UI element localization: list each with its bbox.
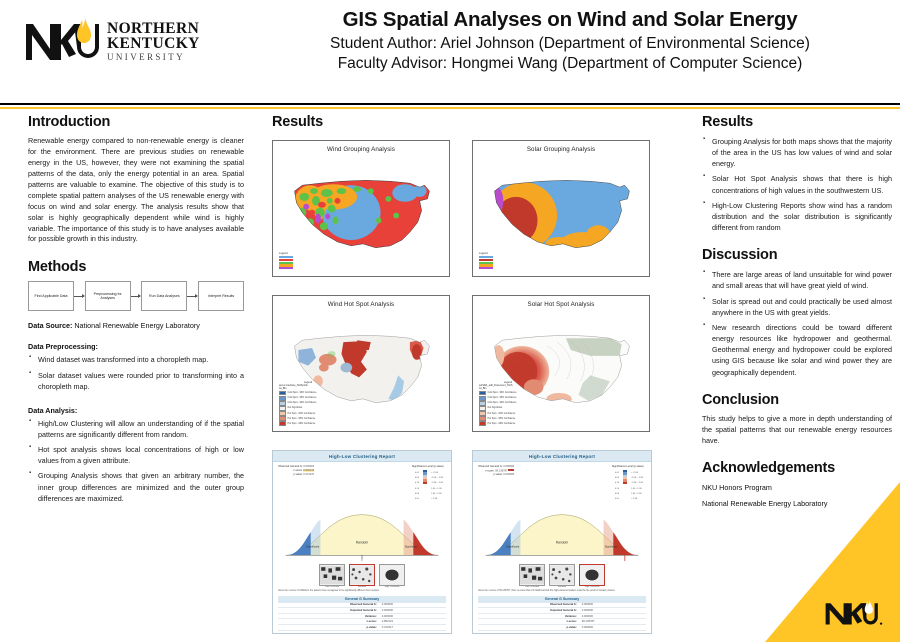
preprocessing-label: Data Preprocessing: — [28, 342, 244, 351]
legend-swatch-cold90 — [479, 401, 486, 406]
legend-row: Cold Spot - 90% Confidence — [279, 401, 337, 406]
legend-swatch-cold95 — [479, 396, 486, 401]
legend-row: Cold Spot - 95% Confidence — [479, 396, 537, 401]
legend-swatch-hot99 — [479, 421, 486, 426]
figure-solar-hotspot: Solar Hot Spot Analysis — [472, 295, 650, 432]
left-column: Introduction Renewable energy compared t… — [28, 114, 244, 510]
logo-line-university: UNIVERSITY — [107, 53, 200, 62]
legend-swatch-cold95 — [279, 396, 286, 401]
conclusion-heading: Conclusion — [702, 392, 892, 408]
legend-label: Hot Spot - 95% Confidence — [488, 418, 516, 420]
pvalue-label: p-value: — [293, 473, 302, 476]
thumb-caption: Random — [549, 586, 575, 588]
legend-label: Hot Spot - 95% Confidence — [288, 418, 316, 420]
clustering-report-card[interactable]: High-Low Clustering Report Observed Gene… — [472, 450, 652, 634]
clustering-report-card[interactable]: High-Low Clustering Report Observed Gene… — [272, 450, 452, 634]
report-stats-left: Observed General G: 0.000000 z-score: 59… — [478, 465, 514, 477]
legend-label: Cold Spot - 90% Confidence — [488, 402, 517, 404]
general-g-summary-table: Observed General G:0.000000 Expected Gen… — [278, 603, 446, 631]
general-g-summary-table: Observed General G:0.000000 Expected Gen… — [478, 603, 646, 631]
map-card[interactable]: Wind Hot Spot Analysis — [272, 295, 450, 432]
map-card[interactable]: Wind Grouping Analysis — [272, 140, 450, 277]
flow-arrow-3-icon — [187, 294, 198, 298]
hotspot-legend: Legend arcex.interface_HotSpotIn Gi_Bin … — [279, 381, 337, 426]
conclusion-text: This study helps to give a more in depth… — [702, 414, 892, 447]
header-divider-gold — [0, 107, 900, 109]
general-g-summary-heading: General G Summary — [478, 596, 646, 603]
data-source-line: Data Source: National Renewable Energy L… — [28, 321, 244, 330]
thumb-caption: High Clustered — [379, 586, 405, 588]
thumb-image — [579, 564, 605, 586]
nku-logo: NORTHERN KENTUCKY UNIVERSITY — [24, 16, 200, 66]
thumb-high-clustered: High Clustered — [379, 564, 405, 589]
list-item: Wind dataset was transformed into a chor… — [28, 354, 244, 365]
normal-distribution-curve: Random Significant Significant — [478, 505, 646, 563]
legend-row: Cold Spot - 99% Confidence — [279, 391, 337, 396]
legend-row: Not Significant — [279, 406, 337, 411]
thumb-image — [519, 564, 545, 586]
thumb-image — [349, 564, 375, 586]
report-title: High-Low Clustering Report — [273, 451, 451, 462]
legend-row: Hot Spot - 95% Confidence — [479, 416, 537, 421]
normal-distribution-curve: Random Significant Significant — [278, 505, 446, 563]
map-card[interactable]: Solar Grouping Analysis — [472, 140, 650, 277]
dataset-information-heading: Dataset Information — [278, 633, 446, 634]
thumb-image — [379, 564, 405, 586]
figure-solar-grouping: Solar Grouping Analysis — [472, 140, 650, 277]
thumb-low-clustered: Low Clustered — [519, 564, 545, 589]
acknowledgement-item: National Renewable Energy Laboratory — [702, 498, 892, 510]
legend-subfield-name: Gi_Bin — [279, 387, 337, 390]
figure-wind-clustering-report: High-Low Clustering Report Observed Gene… — [272, 450, 450, 634]
critical-color-bar — [623, 470, 627, 504]
thumb-random: Random — [349, 564, 375, 589]
svg-text:Significant: Significant — [506, 544, 520, 548]
pvalue-value: 0.372317 — [303, 473, 314, 476]
flow-step-1: Find Applicable Data — [28, 281, 74, 311]
methods-flowchart: Find Applicable Data Preprocessing for A… — [28, 281, 244, 311]
header-divider-black — [0, 103, 900, 105]
list-item: Hot spot analysis shows local concentrat… — [28, 444, 244, 466]
legend-swatch-purple — [279, 267, 293, 269]
significance-level-label: Significance Level (p-value) — [412, 465, 446, 469]
middle-column: Results Wind Grouping Analysis — [272, 114, 672, 634]
observed-g-label: Observed General G: — [478, 465, 503, 468]
legend-swatch-hot95 — [279, 416, 286, 421]
list-item: Solar Hot Spot Analysis shows that there… — [702, 173, 892, 195]
legend-row: Hot Spot - 90% Confidence — [279, 411, 337, 416]
nku-wordmark: NORTHERN KENTUCKY UNIVERSITY — [107, 21, 200, 62]
results-heading-right: Results — [702, 114, 892, 130]
thumb-caption: Random — [349, 586, 375, 588]
flow-step-3: Run Data Analyses — [141, 281, 187, 311]
thumb-high-clustered: High Clustered — [579, 564, 605, 589]
logo-line-kentucky: KENTUCKY — [107, 36, 200, 52]
corner-nku-logo-icon — [824, 600, 886, 630]
svg-text:Random: Random — [556, 540, 569, 544]
pvalue-label: p-value: — [493, 473, 502, 476]
observed-g-value: 0.000001 — [303, 465, 314, 468]
poster-header: NORTHERN KENTUCKY UNIVERSITY GIS Spatial… — [0, 0, 900, 96]
table-row: p-value:0.372317 — [278, 624, 446, 630]
flow-arrow-2-icon — [131, 294, 142, 298]
data-analysis-list: High/Low Clustering will allow an unders… — [28, 418, 244, 504]
introduction-text: Renewable energy compared to non-renewab… — [28, 136, 244, 245]
legend-subfield-name: Gi_Bin — [479, 387, 537, 390]
list-item: Grouping Analysis shows that given an ar… — [28, 470, 244, 503]
list-item: High-Low Clustering Reports show wind ha… — [702, 200, 892, 233]
observed-g-label: Observed General G: — [278, 465, 303, 468]
legend-label: Not Significant — [288, 407, 303, 409]
legend-row: Cold Spot - 95% Confidence — [279, 396, 337, 401]
legend-swatch-purple — [479, 267, 493, 269]
legend-label: Cold Spot - 95% Confidence — [288, 397, 317, 399]
legend-label: Cold Spot - 90% Confidence — [288, 402, 317, 404]
legend-swatch-notsig — [279, 406, 286, 411]
zscore-value: 59.136787 — [495, 469, 507, 472]
dataset-information-heading: Dataset Information — [478, 633, 646, 634]
introduction-heading: Introduction — [28, 114, 244, 130]
list-item: Solar is spread out and could practicall… — [702, 296, 892, 318]
legend-label: Cold Spot - 99% Confidence — [288, 392, 317, 394]
hotspot-legend: Legend solSRA_adtl_Document_HotS Gi_Bin … — [479, 381, 537, 426]
results-list: Grouping Analysis for both maps shows th… — [702, 136, 892, 233]
legend-label: Hot Spot - 99% Confidence — [288, 423, 316, 425]
acknowledgement-item: NKU Honors Program — [702, 482, 892, 494]
thumb-image — [549, 564, 575, 586]
faculty-advisor-line: Faculty Advisor: Hongmei Wang (Departmen… — [250, 54, 890, 74]
list-item: Grouping Analysis for both maps shows th… — [702, 136, 892, 169]
legend-title: Legend — [279, 252, 305, 255]
zscore-label: z-score: — [485, 469, 494, 472]
legend-label: Cold Spot - 99% Confidence — [488, 392, 517, 394]
legend-label: Hot Spot - 90% Confidence — [288, 413, 316, 415]
flow-step-4: Interpret Results — [198, 281, 244, 311]
svg-text:Significant: Significant — [605, 544, 619, 548]
zscore-range-table: < -2.58-2.58 - -1.96-1.96 - -1.65 1.65 -… — [428, 470, 446, 504]
legend-swatch-hot90 — [479, 411, 486, 416]
flow-step-2: Preprocessing for Analyses — [85, 281, 131, 311]
figure-wind-grouping: Wind Grouping Analysis — [272, 140, 450, 277]
pattern-thumbnails: Low Clustered Random — [278, 564, 446, 589]
thumb-image — [319, 564, 345, 586]
legend-swatch-hot95 — [479, 416, 486, 421]
map-title: Solar Hot Spot Analysis — [473, 296, 649, 308]
data-source-label: Data Source: — [28, 321, 72, 330]
table-row: p-value:0.000000 — [478, 624, 646, 630]
report-stats-right: Significance Level (p-value) 0.010.050.1… — [612, 465, 646, 504]
legend-row: Hot Spot - 90% Confidence — [479, 411, 537, 416]
nku-monogram-icon — [24, 16, 100, 66]
legend-swatch-cold90 — [279, 401, 286, 406]
thumb-low-clustered: Low Clustered — [319, 564, 345, 589]
acknowledgements-heading: Acknowledgements — [702, 460, 892, 476]
student-author-line: Student Author: Ariel Johnson (Departmen… — [250, 34, 890, 54]
thumb-caption: Low Clustered — [519, 586, 545, 588]
critical-values-table: 0.010.050.10 0.100.050.01 — [412, 470, 422, 504]
data-source-value: National Renewable Energy Laboratory — [74, 321, 199, 330]
zscore-value: 0.892124 — [303, 469, 314, 472]
poster-title: GIS Spatial Analyses on Wind and Solar E… — [250, 8, 890, 32]
title-block: GIS Spatial Analyses on Wind and Solar E… — [250, 8, 890, 75]
svg-text:Random: Random — [356, 540, 369, 544]
flow-arrow-1-icon — [74, 294, 85, 298]
figure-wind-hotspot: Wind Hot Spot Analysis — [272, 295, 450, 432]
critical-values-table: 0.010.050.10 0.100.050.01 — [612, 470, 622, 504]
discussion-heading: Discussion — [702, 247, 892, 263]
thumb-caption: High Clustered — [579, 586, 605, 588]
thumb-random: Random — [549, 564, 575, 589]
map-title: Wind Grouping Analysis — [273, 141, 449, 153]
legend-row: Hot Spot - 99% Confidence — [479, 421, 537, 426]
legend-swatch-cold99 — [479, 391, 486, 396]
list-item: There are large areas of land unsuitable… — [702, 269, 892, 291]
critical-color-bar — [423, 470, 427, 504]
pvalue-value: 0.000000 — [503, 473, 514, 476]
figure-grid: Wind Grouping Analysis — [272, 140, 672, 634]
legend-row: Cold Spot - 90% Confidence — [479, 401, 537, 406]
legend-row: Cold Spot - 99% Confidence — [479, 391, 537, 396]
report-title: High-Low Clustering Report — [473, 451, 651, 462]
results-heading-middle: Results — [272, 114, 672, 130]
thumb-caption: Low Clustered — [319, 586, 345, 588]
map-legend: Legend — [279, 252, 305, 270]
legend-swatch-cold99 — [279, 391, 286, 396]
map-card[interactable]: Solar Hot Spot Analysis — [472, 295, 650, 432]
methods-heading: Methods — [28, 259, 244, 275]
report-interpretation-note: Given the z-score of 0.892124, the patte… — [278, 590, 446, 593]
map-title: Wind Hot Spot Analysis — [273, 296, 449, 308]
right-column: Results Grouping Analysis for both maps … — [702, 114, 892, 514]
research-poster: NORTHERN KENTUCKY UNIVERSITY GIS Spatial… — [0, 0, 900, 642]
map-legend: Legend — [479, 252, 505, 270]
legend-swatch-notsig — [479, 406, 486, 411]
legend-title: Legend — [479, 252, 505, 255]
map-title: Solar Grouping Analysis — [473, 141, 649, 153]
list-item: Solar dataset values were rounded prior … — [28, 370, 244, 392]
observed-g-value: 0.000000 — [503, 465, 514, 468]
legend-row: Not Significant — [479, 406, 537, 411]
legend-row: Hot Spot - 99% Confidence — [279, 421, 337, 426]
report-interpretation-note: Given the z-score of 59.136787, there is… — [478, 590, 646, 593]
pattern-thumbnails: Low Clustered Random — [478, 564, 646, 589]
legend-swatch-hot90 — [279, 411, 286, 416]
zscore-label: z-score: — [293, 469, 302, 472]
data-analysis-label: Data Analysis: — [28, 406, 244, 415]
svg-text:Significant: Significant — [306, 544, 320, 548]
legend-label: Not Significant — [488, 407, 503, 409]
legend-label: Hot Spot - 90% Confidence — [488, 413, 516, 415]
figure-solar-clustering-report: High-Low Clustering Report Observed Gene… — [472, 450, 650, 634]
legend-label: Cold Spot - 95% Confidence — [488, 397, 517, 399]
zscore-range-table: < -2.58-2.58 - -1.96-1.96 - -1.65 1.65 -… — [628, 470, 646, 504]
preprocessing-list: Wind dataset was transformed into a chor… — [28, 354, 244, 391]
legend-swatch-hot99 — [279, 421, 286, 426]
report-stats-right: Significance Level (p-value) 0.010.050.1… — [412, 465, 446, 504]
general-g-summary-heading: General G Summary — [278, 596, 446, 603]
discussion-list: There are large areas of land unsuitable… — [702, 269, 892, 377]
svg-text:Significant: Significant — [405, 544, 419, 548]
significance-level-label: Significance Level (p-value) — [612, 465, 646, 469]
report-stats-left: Observed General G: 0.000001 z-score: 0.… — [278, 465, 314, 477]
logo-line-northern: NORTHERN — [107, 21, 200, 37]
list-item: New research directions could be toward … — [702, 322, 892, 378]
list-item: High/Low Clustering will allow an unders… — [28, 418, 244, 440]
legend-label: Hot Spot - 99% Confidence — [488, 423, 516, 425]
legend-row: Hot Spot - 95% Confidence — [279, 416, 337, 421]
